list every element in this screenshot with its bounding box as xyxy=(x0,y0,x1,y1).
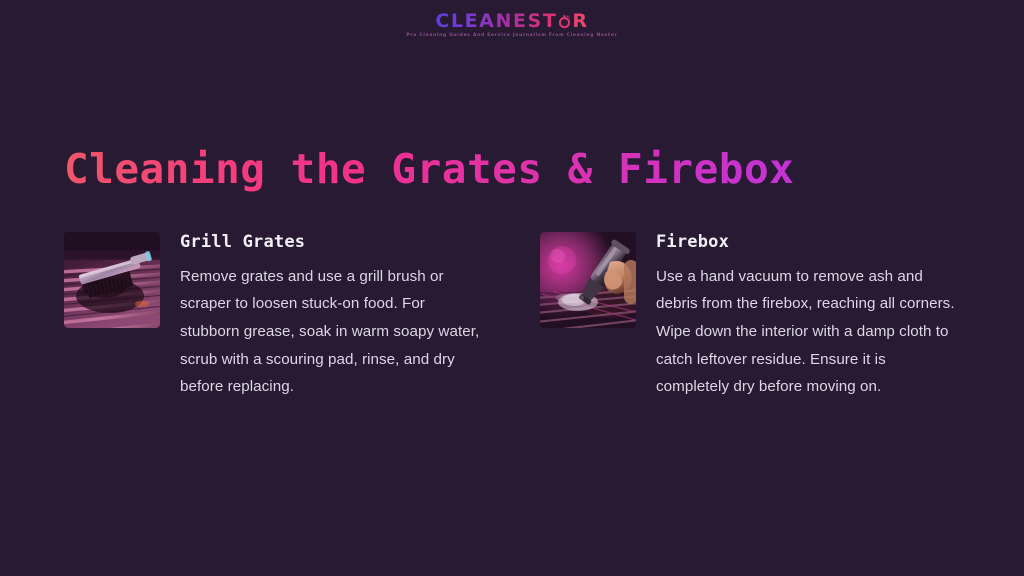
slide-canvas: CLEANESTR Pro Cleaning Guides And Servic… xyxy=(0,0,1024,576)
brand-wordmark: CLEANESTR xyxy=(435,12,588,31)
page-title: Cleaning the Grates & Firebox xyxy=(64,147,794,193)
cleaning-bottle-badge-icon xyxy=(557,14,572,29)
grill-brush-on-grates-photo xyxy=(64,232,160,328)
brand-logo: CLEANESTR Pro Cleaning Guides And Servic… xyxy=(0,12,1024,38)
hand-vacuum-cleaning-firebox-photo xyxy=(540,232,636,328)
column-body: Firebox Use a hand vacuum to remove ash … xyxy=(656,232,958,401)
column-heading: Grill Grates xyxy=(180,233,482,252)
brand-wordmark-text-after: R xyxy=(572,10,588,32)
content-columns: Grill Grates Remove grates and use a gri… xyxy=(64,232,964,401)
column-heading: Firebox xyxy=(656,233,958,252)
brand-tagline: Pro Cleaning Guides And Service Journali… xyxy=(0,34,1024,38)
brand-wordmark-text-before: CLEANEST xyxy=(435,10,557,32)
column-body: Grill Grates Remove grates and use a gri… xyxy=(180,232,482,401)
column-paragraph: Use a hand vacuum to remove ash and debr… xyxy=(656,263,958,401)
column-paragraph: Remove grates and use a grill brush or s… xyxy=(180,263,482,401)
content-column: Firebox Use a hand vacuum to remove ash … xyxy=(540,232,958,401)
content-column: Grill Grates Remove grates and use a gri… xyxy=(64,232,482,401)
